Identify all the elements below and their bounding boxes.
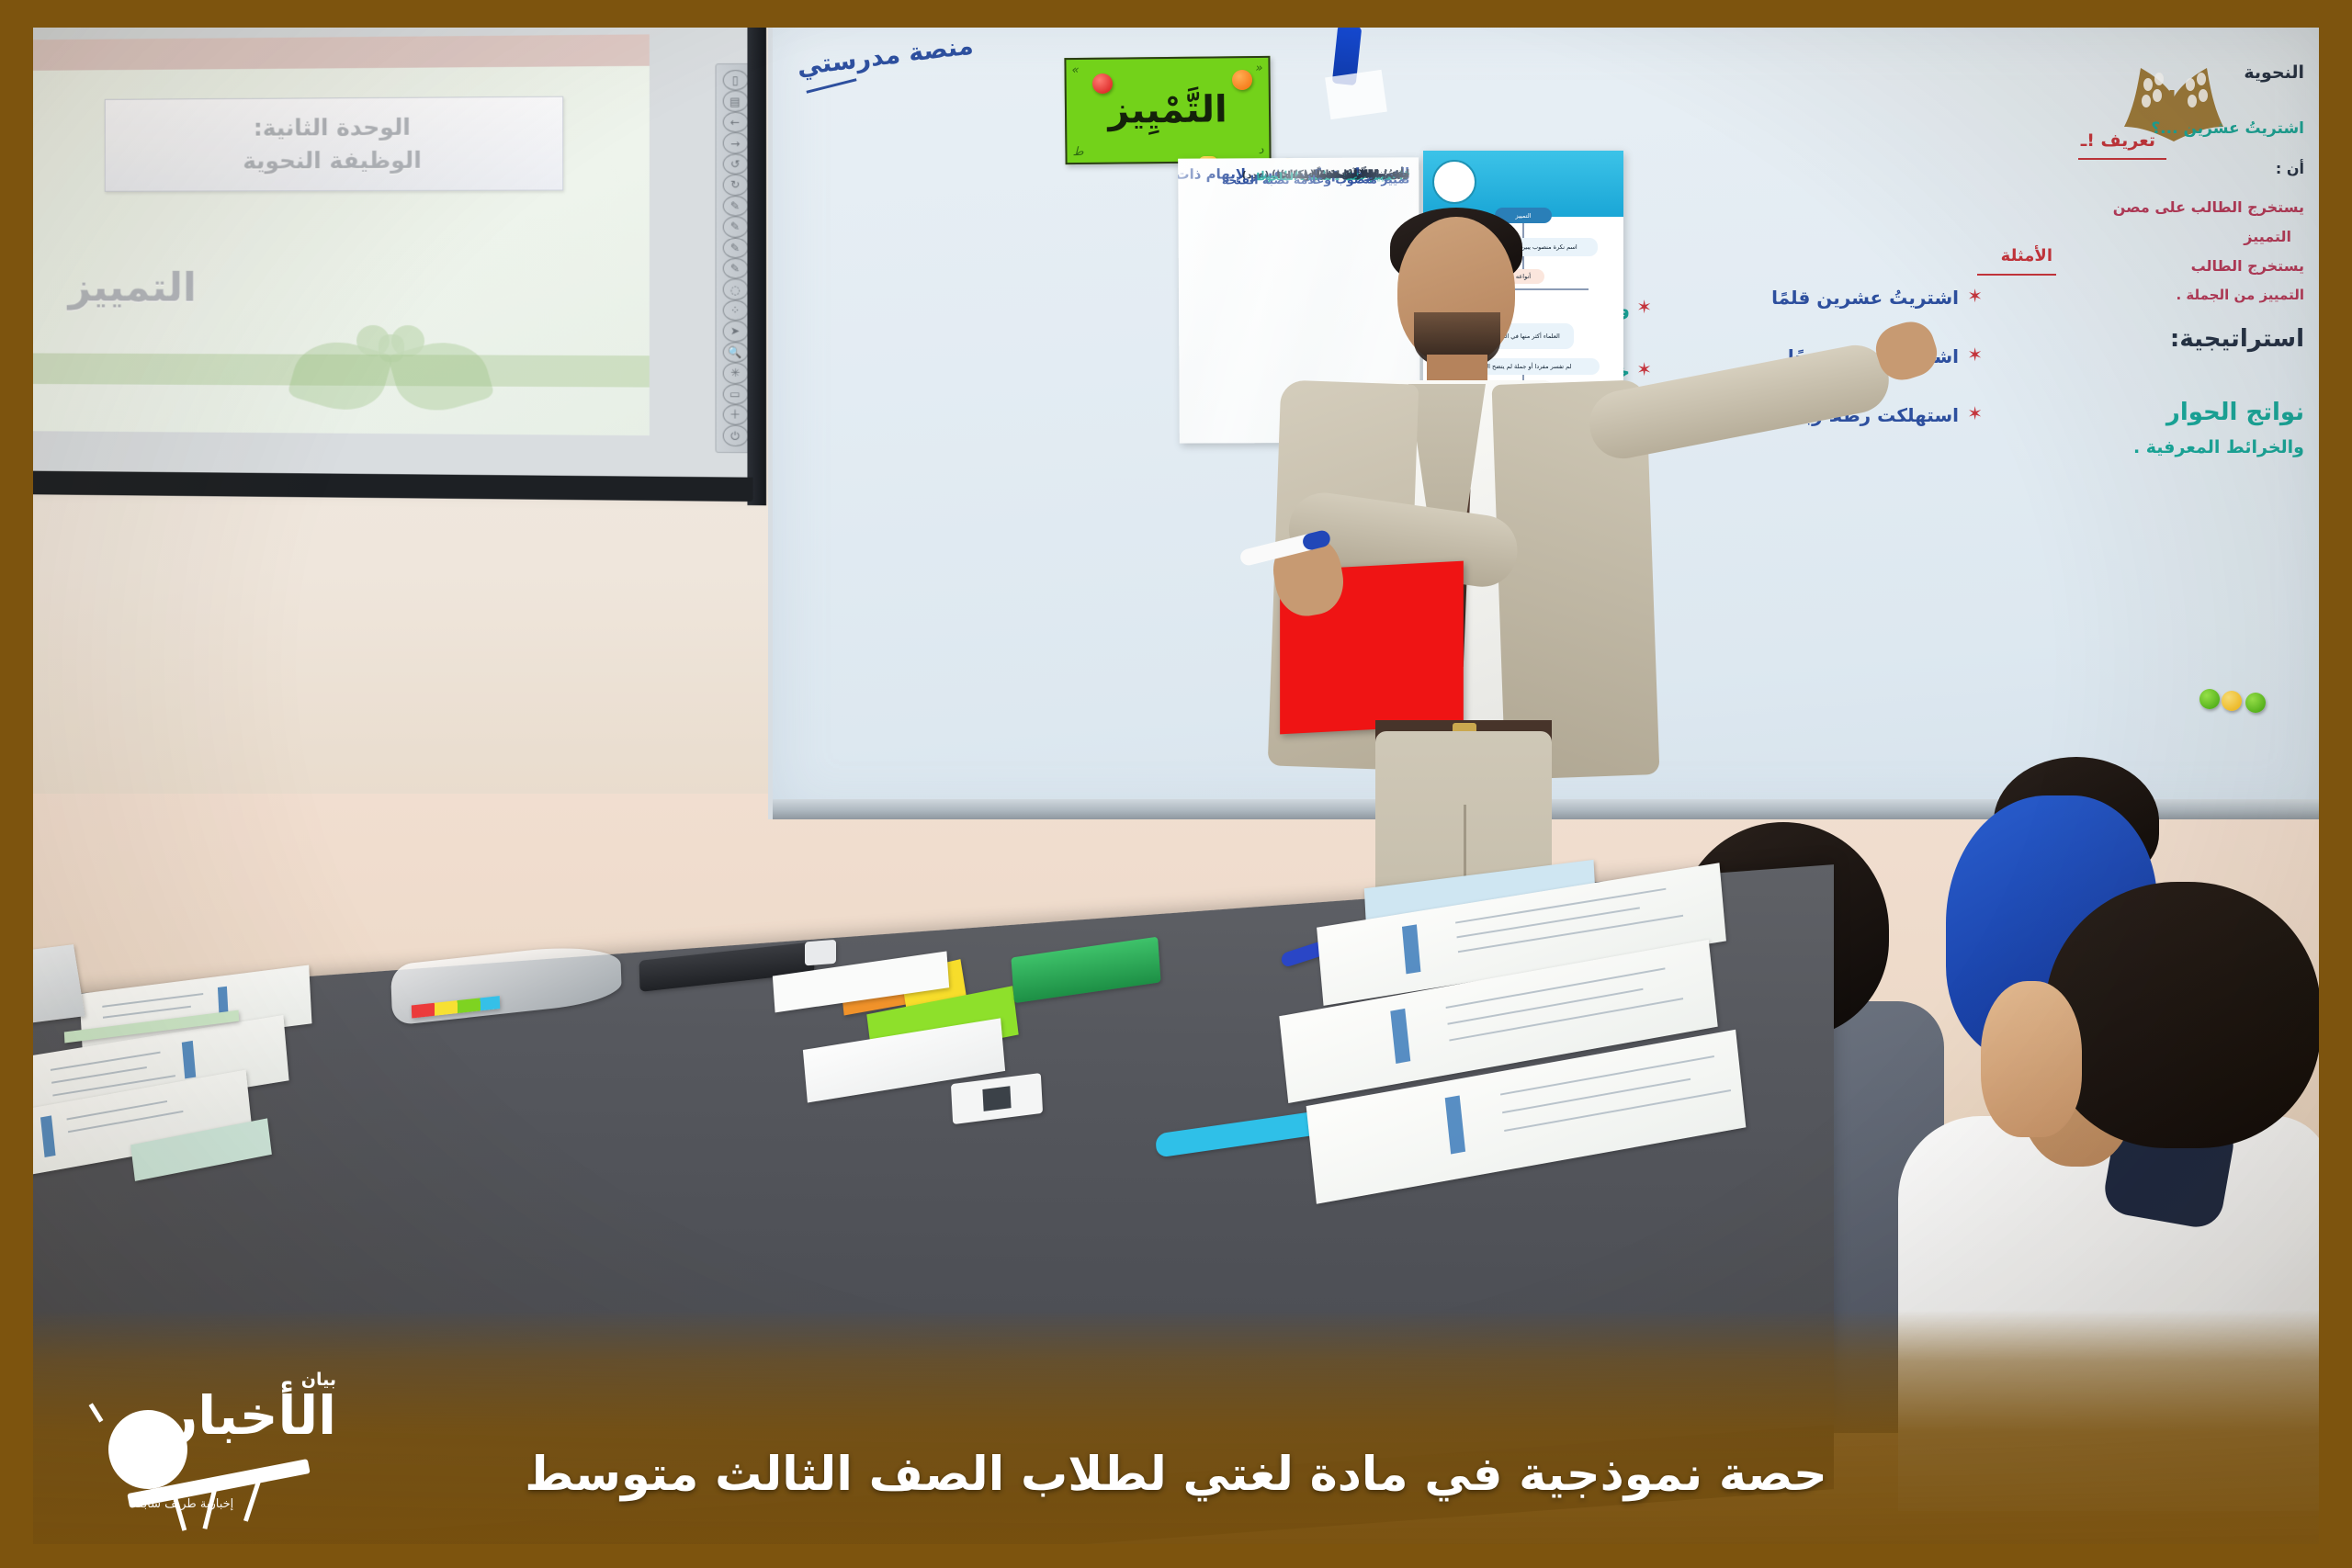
small-white-object xyxy=(805,940,836,965)
board-tape xyxy=(1325,70,1387,119)
green-card-text: التَّمْيِيز xyxy=(1108,88,1227,131)
bullet-2: ✶ xyxy=(1967,402,1983,424)
green-tray xyxy=(1011,937,1160,1004)
power-socket xyxy=(951,1073,1043,1124)
moon-tick-icon xyxy=(89,1403,104,1422)
board-note-10: والخرائط المعرفية . xyxy=(2133,437,2304,457)
board-note-4: التمييز xyxy=(2244,228,2291,245)
slide-bow-decoration xyxy=(294,318,487,429)
settings-icon[interactable]: ✳ xyxy=(722,363,748,384)
student3-hand-on-face xyxy=(1981,981,2082,1137)
board-note-1: اشتريتُ عشرين ...؟ xyxy=(2151,119,2304,138)
new-page-icon[interactable]: ▯ xyxy=(722,70,748,91)
slide-subtitle: التمييز xyxy=(68,265,196,311)
slide-top-band xyxy=(33,34,650,71)
board-note-0: النحوية xyxy=(2244,62,2304,83)
projected-slide: الوحدة الثانية: الوظيفة النحوية التمييز xyxy=(33,34,650,435)
whiteboard-note-platform: منصة مدرستي xyxy=(796,31,975,81)
bullet-0: ✶ xyxy=(1967,285,1983,307)
teacher-right-arm-pointing xyxy=(1584,340,1894,465)
board-definition-label: تعريف !ـ xyxy=(2081,130,2155,151)
photo-canvas: منصة مدرستي التَّمْيِيز « » ط د تمييز مف… xyxy=(33,28,2319,1544)
power-icon[interactable]: ⏻ xyxy=(722,425,748,446)
student3-head xyxy=(2045,882,2319,1148)
magnet-green-2 xyxy=(2245,693,2266,713)
pen-black-icon[interactable]: ✎ xyxy=(722,258,748,279)
forward-arrow-icon[interactable]: → xyxy=(722,132,748,153)
bullet-1: ✶ xyxy=(1967,344,1983,366)
posterA-line-11: تمييز منصوب وعلامة نصبه الفتحة xyxy=(1222,172,1410,187)
board-note-5: يستخرج الطالب xyxy=(2191,257,2304,275)
smartboard-bezel-right xyxy=(747,28,766,505)
board-note-2: أن : xyxy=(2276,160,2304,177)
slide-title-line2: الوظيفة النحوية xyxy=(243,144,422,178)
shapes-icon[interactable]: ⁘ xyxy=(722,300,748,321)
definition-underline xyxy=(2078,158,2166,160)
undo-icon[interactable]: ↺ xyxy=(722,153,748,175)
board-note-8: استراتيجية: xyxy=(2170,325,2304,353)
moon-icon xyxy=(108,1410,187,1489)
magnet-red xyxy=(1092,73,1113,94)
photo-caption: حصة نموذجية في مادة لغتي لطلاب الصف الثا… xyxy=(33,1448,2319,1502)
example-underline xyxy=(1977,274,2056,276)
framed-photo: منصة مدرستي التَّمْيِيز « » ط د تمييز مف… xyxy=(0,0,2352,1568)
pen-red-icon[interactable]: ✎ xyxy=(722,196,748,217)
magnet-yellow-2 xyxy=(2222,691,2242,711)
interactive-smartboard[interactable]: الوحدة الثانية: الوظيفة النحوية التمييز … xyxy=(33,28,753,487)
board-note-3: يستخرج الطالب على مصن xyxy=(2113,198,2304,216)
magnifier-icon[interactable]: 🔍 xyxy=(722,342,748,363)
slide-title-line1: الوحدة الثانية: xyxy=(254,111,411,145)
pen-green-icon[interactable]: ✎ xyxy=(722,237,748,258)
slide-title-box: الوحدة الثانية: الوظيفة النحوية xyxy=(105,96,564,192)
news-agency-logo: بيان الأخبار إخبارية طريف سابقاً xyxy=(88,1370,336,1507)
pointer-icon[interactable]: ➤ xyxy=(722,321,748,342)
board-note-6: التمييز من الجملة . xyxy=(2176,287,2304,303)
board-note-9: نواتج الحوار xyxy=(2166,399,2304,426)
magnet-orange xyxy=(1232,70,1252,90)
keyboard-icon[interactable]: ▭ xyxy=(722,384,748,405)
logo-big-word: الأخبار xyxy=(167,1389,336,1442)
board-example-label: الأمثلة xyxy=(2001,246,2052,265)
magnet-green-1 xyxy=(2199,689,2220,709)
eraser-icon[interactable]: ◌ xyxy=(722,279,748,300)
ministry-logo-icon xyxy=(1432,160,1476,204)
zoom-in-icon[interactable]: ＋ xyxy=(722,404,748,425)
save-icon[interactable]: ▤ xyxy=(722,91,748,112)
logo-wordmark: بيان الأخبار xyxy=(167,1371,336,1442)
back-arrow-icon[interactable]: ← xyxy=(722,112,748,133)
whiteboard-arrow-icon xyxy=(806,78,856,93)
logo-tagline: إخبارية طريف سابقاً xyxy=(134,1497,233,1511)
pen-blue-icon[interactable]: ✎ xyxy=(722,216,748,237)
redo-icon[interactable]: ↻ xyxy=(722,175,748,196)
